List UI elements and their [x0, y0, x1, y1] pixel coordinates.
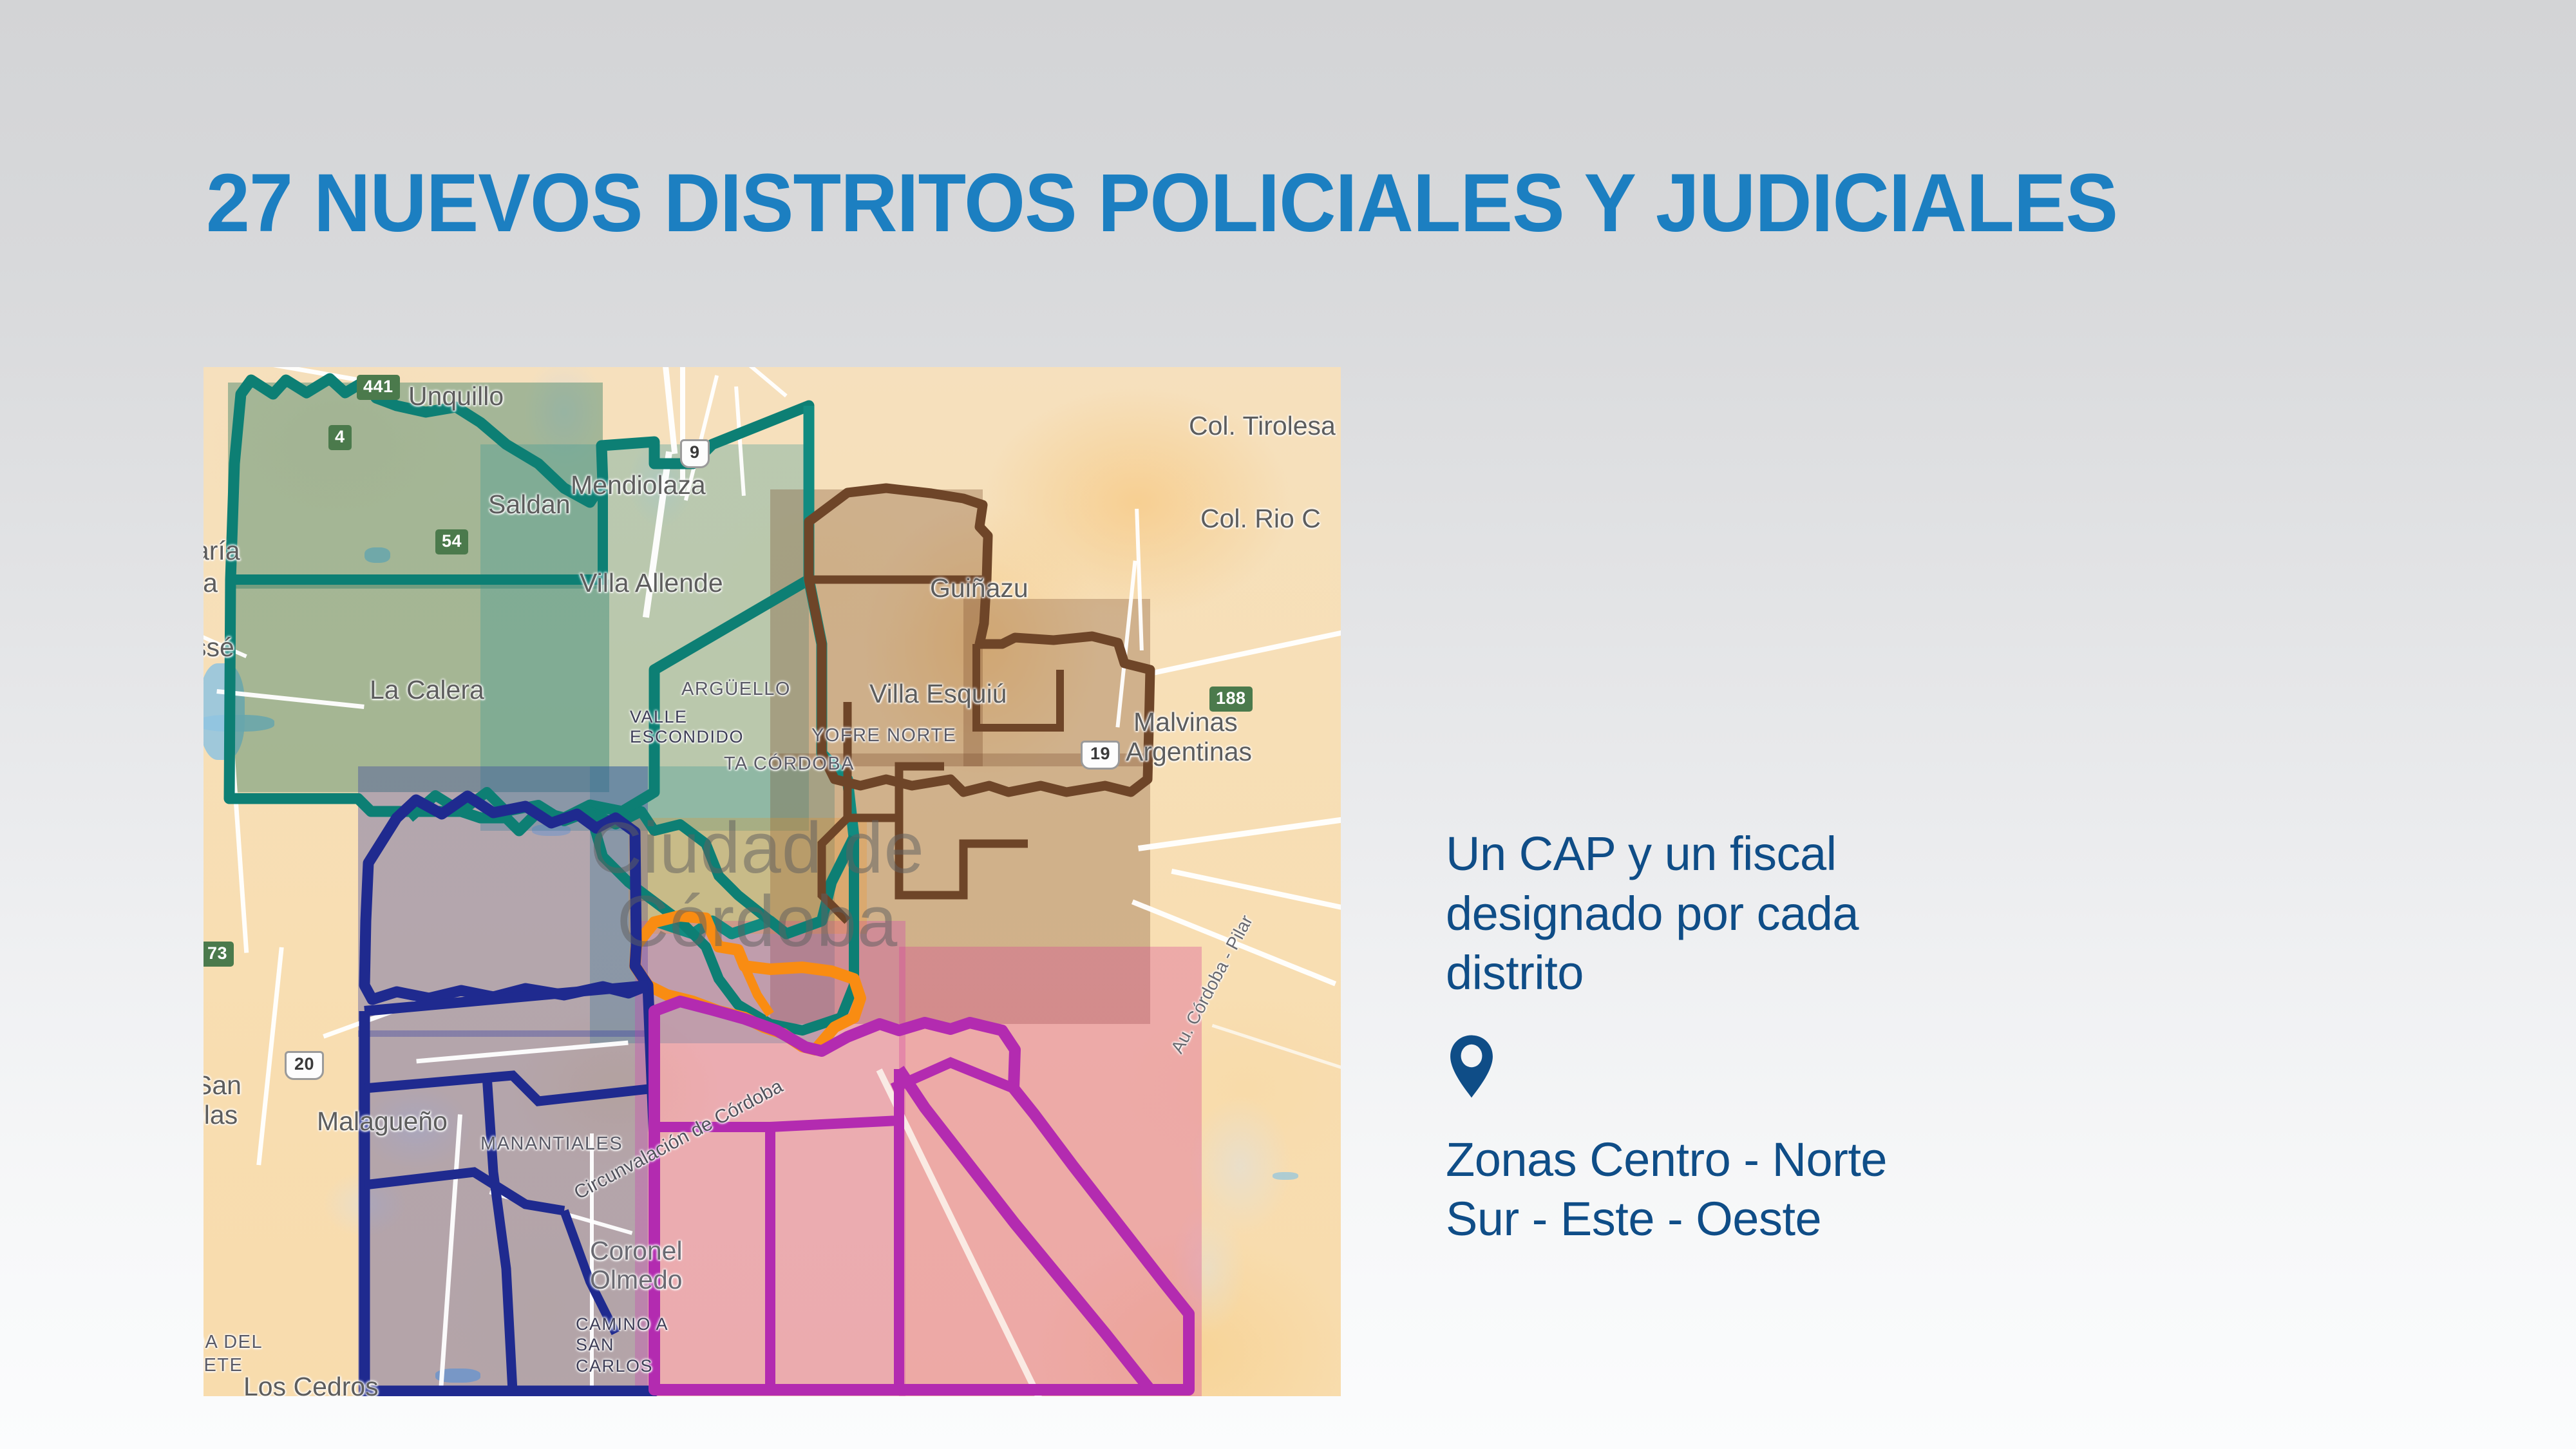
place-label-guinazu: Guiñazu [930, 573, 1028, 603]
place-label-malvinas: Malvinas [1133, 707, 1238, 737]
caption-column: Un CAP y un fiscal designado por cada di… [1446, 824, 2206, 1249]
highway-shield-441: 441 [357, 375, 400, 400]
place-label-malaguenio: Malagueño [317, 1106, 448, 1137]
highway-shield-9: 9 [680, 439, 710, 468]
place-label-punilla: la [204, 568, 218, 598]
caption-line: distrito [1446, 943, 2206, 1003]
caption-line: Zonas Centro - Norte [1446, 1130, 2206, 1190]
highway-shield-19: 19 [1081, 741, 1120, 770]
place-label-unquillo: Unquillo [408, 381, 504, 412]
caption-line: Un CAP y un fiscal [1446, 824, 2206, 884]
place-label-niete: ÑETE [204, 1355, 243, 1376]
place-label-arguello: ARGÜELLO [681, 679, 791, 700]
highway-shield-188: 188 [1209, 687, 1253, 712]
highway-shield-4: 4 [328, 425, 352, 450]
city-watermark: Ciudad de Córdoba [513, 811, 1002, 958]
place-label-manantiales: MANANTIALES [480, 1133, 623, 1155]
caption-line: Sur - Este - Oeste [1446, 1189, 2206, 1249]
caption-block-zonas: Zonas Centro - Norte Sur - Este - Oeste [1446, 1130, 2206, 1249]
page-title: 27 NUEVOS DISTRITOS POLICIALES Y JUDICIA… [206, 162, 2051, 245]
place-label-valle-escondido: VALLE ESCONDIDO [630, 707, 726, 747]
place-label-saldan: Saldan [488, 489, 571, 520]
place-label-yofre-norte: YOFRE NORTE [811, 725, 956, 746]
caption-line: designado por cada [1446, 884, 2206, 944]
place-label-santa-maria: aría [204, 536, 240, 566]
highway-shield-20: 20 [285, 1051, 324, 1080]
highway-shield-73: 73 [204, 942, 234, 967]
place-label-nicolas: olas [204, 1100, 238, 1130]
place-label-bialet-masse: ssé [204, 632, 234, 663]
highway-shield-54: 54 [435, 529, 468, 554]
map-pin-icon [1447, 1033, 2206, 1103]
place-label-col-tirolesa: Col. Tirolesa [1189, 411, 1336, 441]
place-label-los-cedros: Los Cedros [243, 1372, 379, 1396]
place-label-da-del: DA DEL [204, 1332, 263, 1353]
place-label-ta-cordoba: TA CÓRDOBA [724, 753, 855, 775]
place-label-mendiolaza: Mendiolaza [571, 470, 706, 500]
district-map[interactable]: Ciudad de Córdoba Unquillo Col. Tirolesa… [204, 367, 1341, 1396]
place-label-argentinas: Argentinas [1126, 737, 1252, 767]
place-label-villa-allende: Villa Allende [580, 568, 723, 598]
place-label-col-rio-c: Col. Rio C [1200, 504, 1321, 534]
place-label-san: San [204, 1070, 241, 1101]
place-label-villa-esquiu: Villa Esquiú [869, 679, 1007, 709]
road-label-camino-san-carlos: CAMINO A SAN CARLOS [576, 1314, 692, 1376]
place-label-la-calera: La Calera [370, 675, 484, 705]
caption-block-cap-fiscal: Un CAP y un fiscal designado por cada di… [1446, 824, 2206, 1003]
place-label-coronel-olmedo: Coronel Olmedo [590, 1236, 699, 1294]
